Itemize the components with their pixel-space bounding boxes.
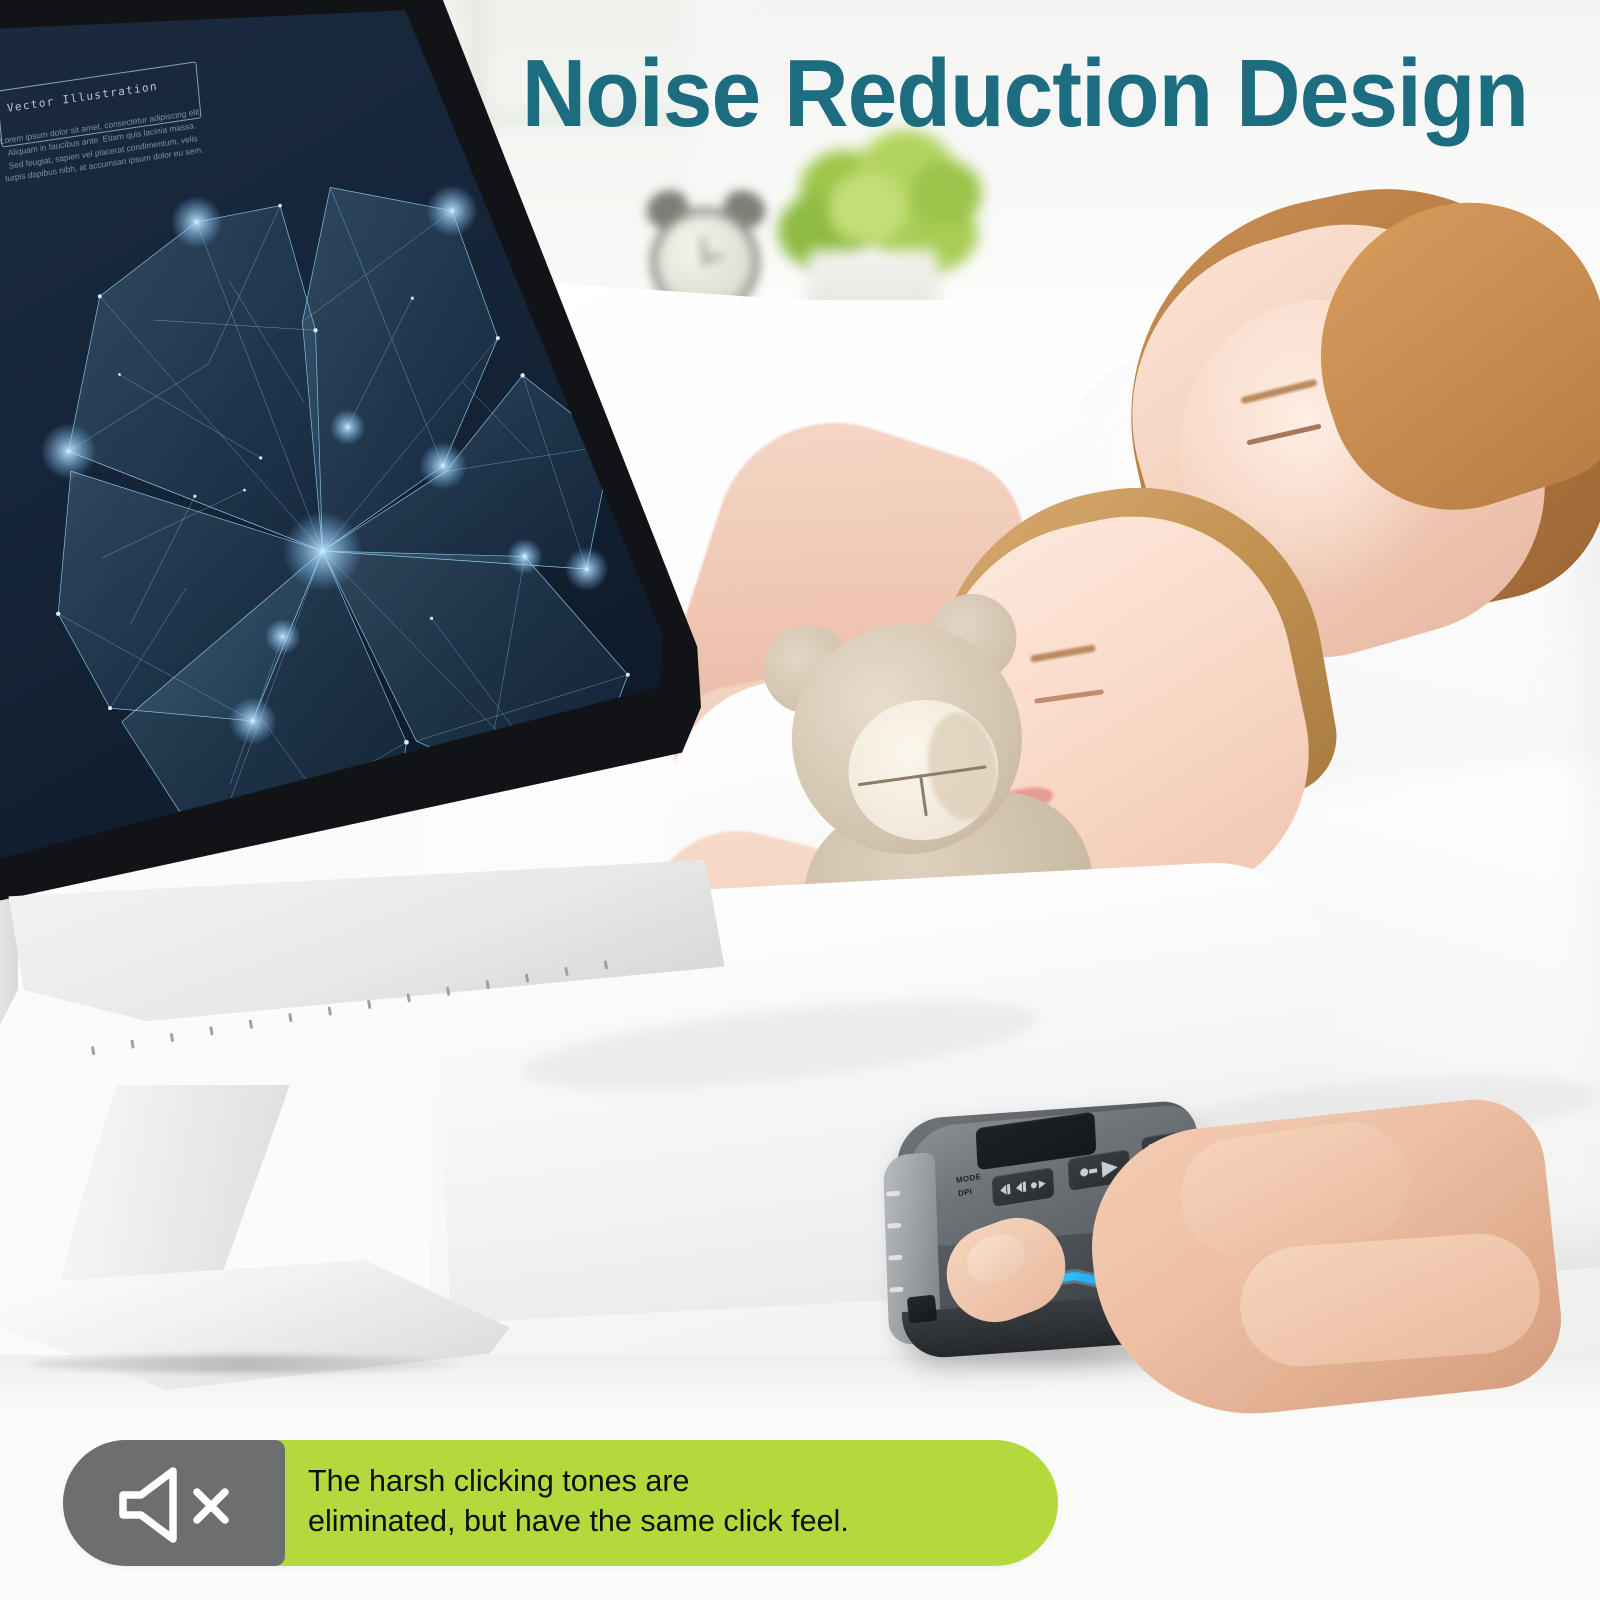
caption-text: The harsh clicking tones are eliminated,… <box>308 1462 1038 1542</box>
feature-caption-bar: The harsh clicking tones are eliminated,… <box>63 1440 1058 1566</box>
caption-line-1: The harsh clicking tones are <box>308 1462 1038 1502</box>
caption-icon-panel <box>63 1440 285 1566</box>
caption-line-2: eliminated, but have the same click feel… <box>308 1502 1038 1542</box>
product-mouse-with-hand: MODE DPI <box>880 1090 1600 1430</box>
desktop-monitor: Vector Illustration Lorem ipsum dolor si… <box>0 0 780 1380</box>
speaker-mute-icon <box>115 1466 235 1544</box>
palm <box>1236 1230 1544 1371</box>
product-marketing-image: Vector Illustration Lorem ipsum dolor si… <box>0 0 1600 1600</box>
page-title: Noise Reduction Design <box>522 46 1528 142</box>
monitor-foot-shadow <box>30 1355 460 1373</box>
mouse-usb-port <box>907 1295 938 1324</box>
